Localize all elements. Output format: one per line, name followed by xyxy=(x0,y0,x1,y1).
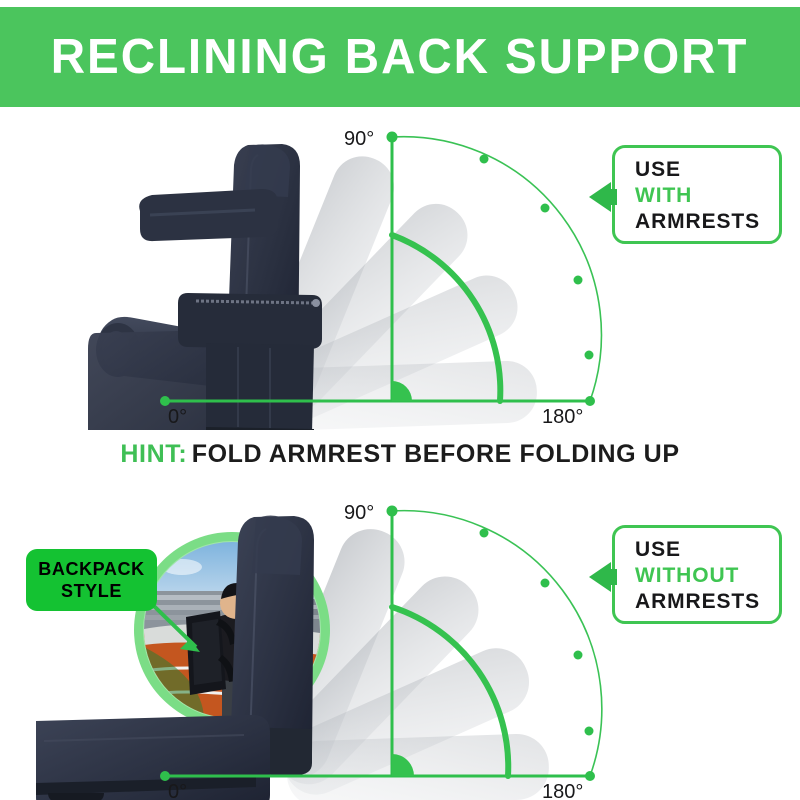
callout-line-3: ARMRESTS xyxy=(635,589,779,615)
label-angle-180: 180° xyxy=(542,781,583,800)
backpack-style-label[interactable]: BACKPACK STYLE xyxy=(26,549,157,611)
callout-line-2: WITHOUT xyxy=(635,563,779,589)
recline-dot-4 xyxy=(585,727,594,736)
backpack-label-line-2: STYLE xyxy=(61,580,122,602)
recline-dot-3 xyxy=(574,651,583,660)
hint-text: FOLD ARMREST BEFORE FOLDING UP xyxy=(192,440,680,468)
recline-dot-4 xyxy=(585,351,594,360)
callout-line-1: USE xyxy=(635,537,779,563)
recline-dot-1 xyxy=(480,529,489,538)
header-banner: RECLINING BACK SUPPORT xyxy=(0,7,800,107)
callout-line-3: ARMRESTS xyxy=(635,209,779,235)
axis-dot-0 xyxy=(160,771,170,781)
hint-keyword: HINT: xyxy=(120,440,187,468)
diagram-with-armrests: 90° 0° 180° USE WITH ARMRESTS xyxy=(0,115,800,430)
callout-line-1: USE xyxy=(635,157,779,183)
recline-dot-1 xyxy=(480,155,489,164)
recline-dot-2 xyxy=(541,579,550,588)
callout-line-2: WITH xyxy=(635,183,779,209)
chair-side-profile-with-armrests xyxy=(88,144,322,430)
callout-use-with-armrests[interactable]: USE WITH ARMRESTS xyxy=(612,145,782,244)
backpack-label-line-1: BACKPACK xyxy=(38,558,144,580)
callout-arrow-tail xyxy=(609,569,617,585)
callout-arrow-tail xyxy=(609,189,617,205)
label-angle-0: 0° xyxy=(168,406,187,428)
label-angle-90: 90° xyxy=(344,502,374,524)
axis-dot-0 xyxy=(160,396,170,406)
hint-row: HINT: FOLD ARMREST BEFORE FOLDING UP xyxy=(0,440,800,469)
label-angle-0: 0° xyxy=(168,781,187,800)
recline-dot-3 xyxy=(574,276,583,285)
diagram-without-armrests: 90° 0° 180° USE WITHOUT ARMRESTS xyxy=(0,495,800,800)
recline-dot-2 xyxy=(541,204,550,213)
infographic-page: RECLINING BACK SUPPORT xyxy=(0,0,800,800)
label-angle-90: 90° xyxy=(344,128,374,150)
callout-arrow-left-icon xyxy=(589,562,611,592)
label-angle-180: 180° xyxy=(542,406,583,428)
callout-use-without-armrests[interactable]: USE WITHOUT ARMRESTS xyxy=(612,525,782,624)
page-title: RECLINING BACK SUPPORT xyxy=(51,33,749,82)
callout-arrow-left-icon xyxy=(589,182,611,212)
